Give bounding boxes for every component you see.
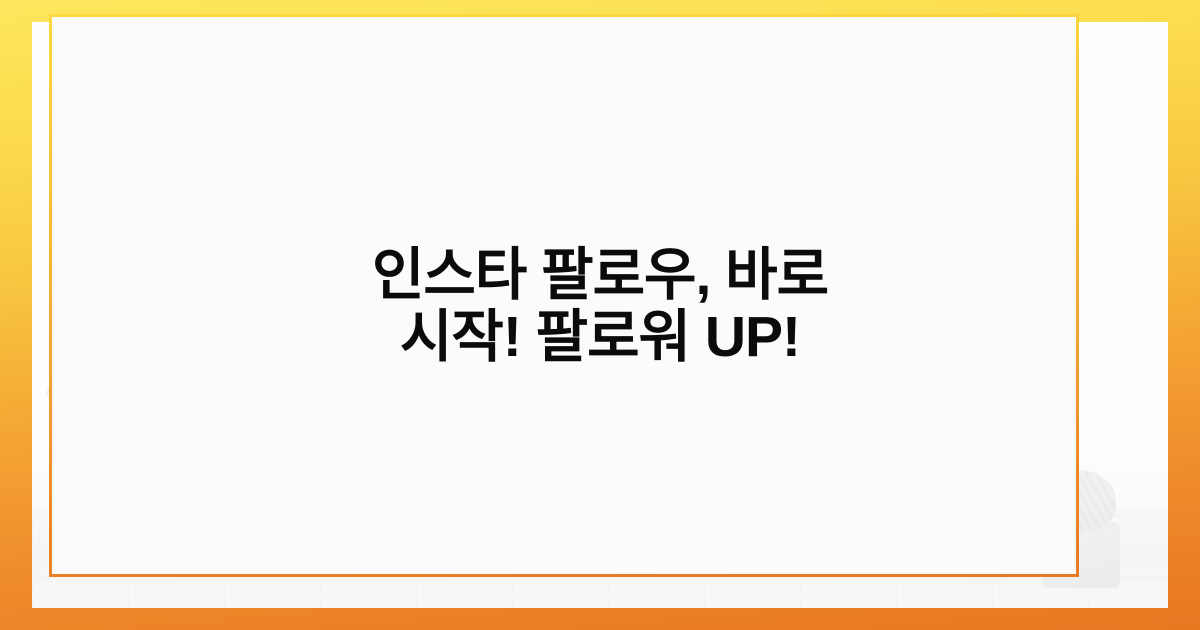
- speaker-tower: [964, 450, 1008, 578]
- knitted-pouf: [1044, 470, 1116, 532]
- tv-director-label: DIRECTOR: [457, 217, 527, 226]
- tv-movie-title: GONE GIRL: [535, 179, 744, 206]
- poster-caption: [79, 173, 127, 177]
- poster-stripes: [81, 22, 139, 115]
- tv-stand: [408, 416, 952, 538]
- tv-genre: Drama: [629, 223, 650, 230]
- tv-director-name: David Fincher: [457, 226, 527, 235]
- poster-signature: [87, 123, 127, 127]
- remote-control: [613, 461, 625, 483]
- laptop: [654, 461, 745, 483]
- tv-stand-base-lip: [428, 540, 896, 546]
- headline-line-2: 시작! 팔로워 UP!: [120, 306, 1080, 368]
- tv-year: 2014: [657, 223, 673, 230]
- thumbnail-card: GONE GIRL 88% 57+ 2 hr 29 min Drama 2014…: [0, 0, 1200, 630]
- headline-line-1: 인스타 팔로우, 바로: [120, 244, 1080, 306]
- tv-score: 88%: [547, 223, 561, 230]
- plant-pot: [136, 456, 258, 562]
- headline: 인스타 팔로우, 바로 시작! 팔로워 UP!: [0, 244, 1200, 368]
- score-dot-icon: [535, 224, 540, 229]
- small-wall-frame: [900, 440, 934, 544]
- framed-striped-poster: [70, 22, 156, 196]
- tv-meta-row: 88% 57+ 2 hr 29 min Drama 2014 R CC: [535, 223, 702, 230]
- tv-caption-badge: CC: [692, 223, 702, 230]
- tv-rating-badge: R: [680, 223, 685, 230]
- tv-audience: 57+: [568, 223, 580, 230]
- tv-runtime: 2 hr 29 min: [587, 223, 622, 230]
- small-device: [633, 471, 644, 481]
